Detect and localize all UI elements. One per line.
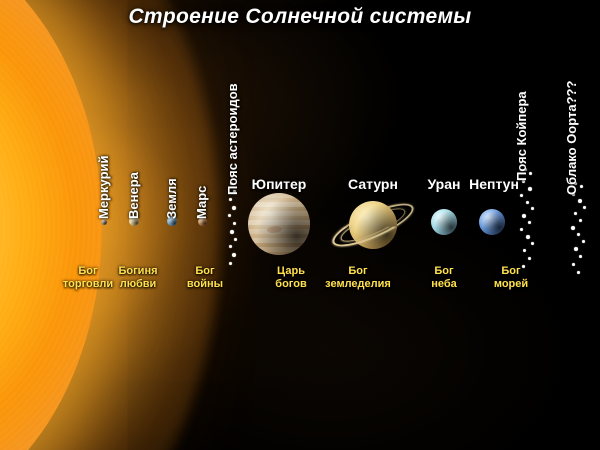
solar-system-diagram: Строение Солнечной системы — [0, 0, 600, 450]
planet-uranus — [431, 209, 457, 235]
planet-mercury — [101, 219, 107, 225]
label-mercury: Меркурий — [97, 156, 110, 220]
label-mars: Марс — [195, 186, 208, 219]
sun — [0, 0, 102, 450]
jupiter-shading — [248, 193, 310, 255]
role-jupiter-line2: богов — [262, 278, 320, 291]
role-mercury-line1: Бог — [58, 265, 118, 278]
role-neptune: Бог морей — [480, 265, 542, 291]
role-saturn-line2: земледелия — [316, 278, 400, 291]
sun-limb — [0, 0, 102, 450]
role-mercury-line2: торговли — [58, 278, 118, 291]
label-oort-cloud: Облако Оорта??? — [565, 81, 578, 195]
role-uranus: Бог неба — [416, 265, 472, 291]
label-kuiper-belt: Пояс Койпера — [515, 91, 528, 181]
asteroid-belt — [226, 182, 242, 270]
role-venus-line1: Богиня — [110, 265, 166, 278]
role-jupiter-line1: Царь — [262, 265, 320, 278]
role-saturn: Бог земледелия — [316, 265, 400, 291]
label-earth: Земля — [165, 178, 178, 219]
page-title: Строение Солнечной системы — [0, 5, 600, 29]
planet-jupiter — [248, 193, 310, 255]
role-jupiter: Царь богов — [262, 265, 320, 291]
role-neptune-line2: морей — [480, 278, 542, 291]
label-uranus: Уран — [414, 177, 474, 192]
mercury-shading — [101, 219, 107, 225]
label-jupiter: Юпитер — [248, 177, 310, 192]
label-asteroid-belt: Пояс астероидов — [226, 83, 239, 195]
role-venus: Богиня любви — [110, 265, 166, 291]
label-venus: Венера — [127, 172, 140, 219]
role-neptune-line1: Бог — [480, 265, 542, 278]
role-saturn-line1: Бог — [316, 265, 400, 278]
role-venus-line2: любви — [110, 278, 166, 291]
label-saturn: Сатурн — [338, 177, 408, 192]
oort-cloud — [566, 182, 590, 280]
neptune-shading — [479, 209, 505, 235]
uranus-shading — [431, 209, 457, 235]
role-uranus-line2: неба — [416, 278, 472, 291]
role-uranus-line1: Бог — [416, 265, 472, 278]
role-mars: Бог войны — [175, 265, 235, 291]
role-mars-line1: Бог — [175, 265, 235, 278]
role-mars-line2: войны — [175, 278, 235, 291]
planet-saturn-system — [330, 184, 416, 266]
role-mercury: Бог торговли — [58, 265, 118, 291]
planet-neptune — [479, 209, 505, 235]
